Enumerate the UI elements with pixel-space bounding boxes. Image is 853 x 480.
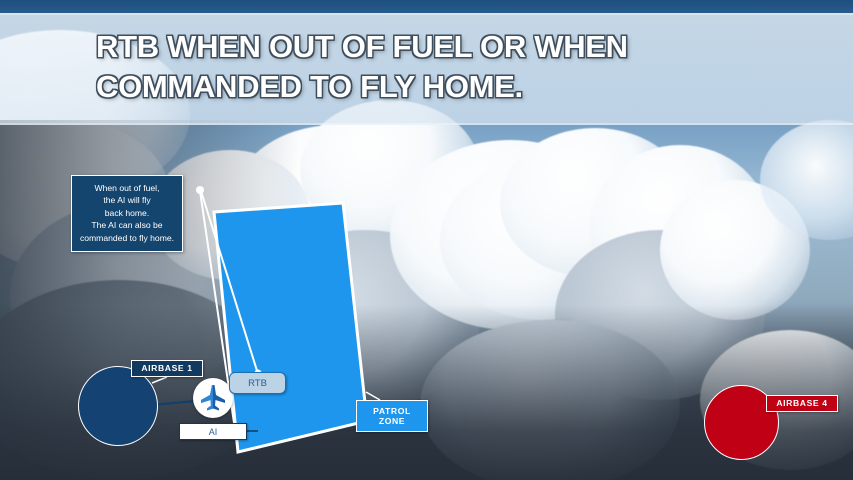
page-title: RTB when out of fuel or when commanded t… xyxy=(96,27,796,107)
fighter-jet-icon[interactable] xyxy=(193,378,233,418)
ai-label[interactable]: AI xyxy=(179,423,247,440)
airbase-1-label[interactable]: AIRBASE 1 xyxy=(131,360,203,377)
slide-canvas: RTB when out of fuel or when commanded t… xyxy=(0,0,853,480)
rtb-label[interactable]: RTB xyxy=(229,372,286,394)
banner-rule-bottom xyxy=(0,123,853,125)
banner-rule-top xyxy=(0,13,853,15)
airbase-1-marker[interactable] xyxy=(78,366,158,446)
fighter-jet-glyph xyxy=(197,382,229,414)
callout-textbox: When out of fuel, the AI will fly back h… xyxy=(71,175,183,252)
patrol-zone-label[interactable]: PATROL ZONE xyxy=(356,400,428,432)
airbase-4-label[interactable]: AIRBASE 4 xyxy=(766,395,838,412)
